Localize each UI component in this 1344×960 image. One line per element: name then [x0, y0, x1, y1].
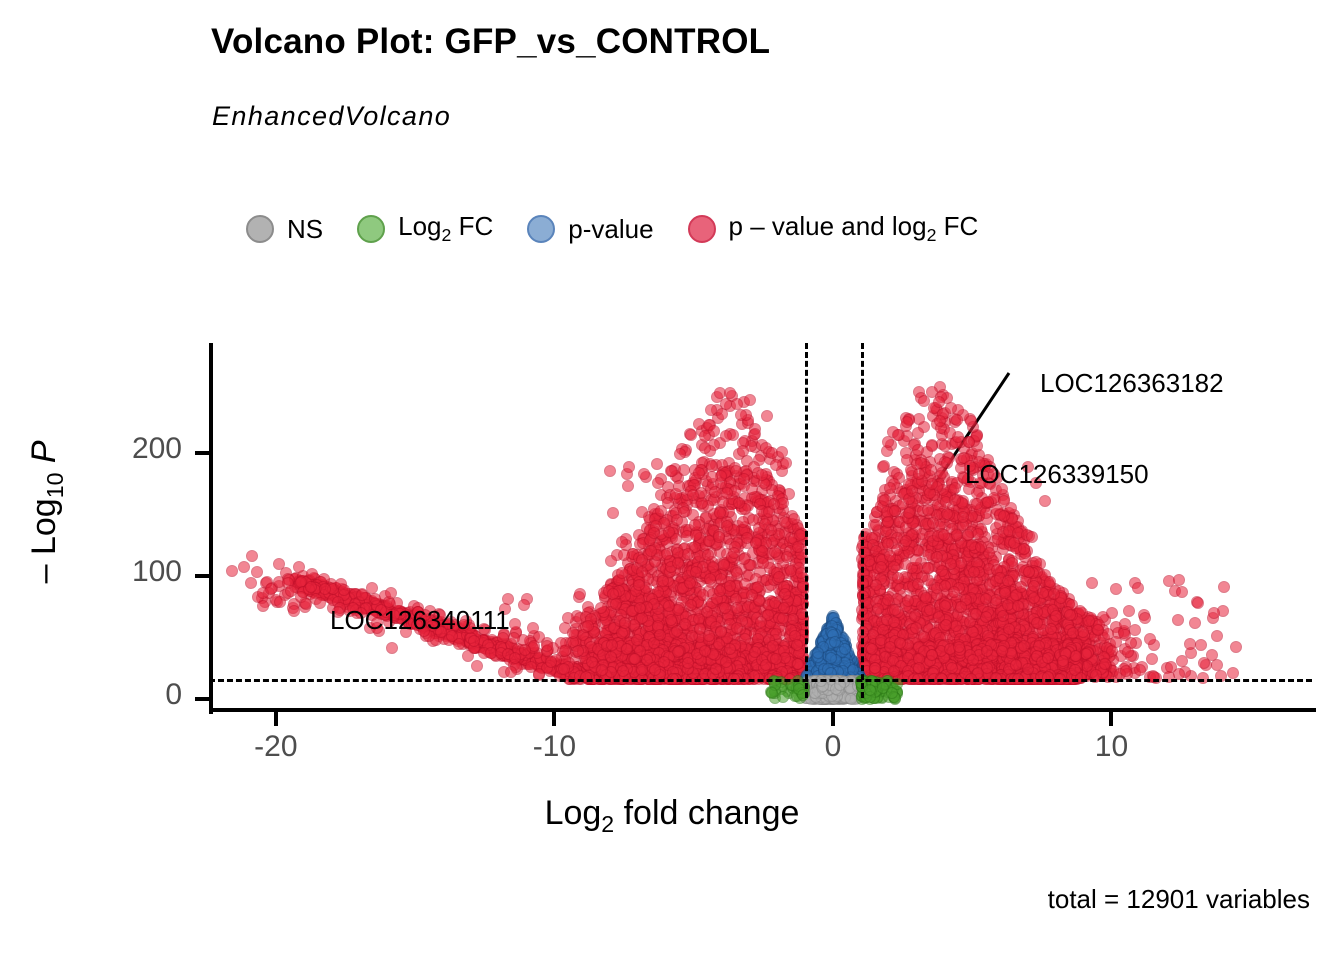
data-point [731, 567, 743, 579]
legend-swatch-icon [527, 215, 555, 243]
data-point [933, 396, 945, 408]
data-point [872, 603, 884, 615]
data-point [724, 387, 736, 399]
data-point [708, 425, 720, 437]
data-point [878, 460, 890, 472]
data-point [716, 408, 728, 420]
data-point [912, 444, 924, 456]
data-point [744, 394, 756, 406]
legend-item-3[interactable]: p – value and log2 FC [688, 211, 1013, 246]
data-point [674, 448, 686, 460]
data-point [657, 575, 669, 587]
legend-swatch-icon [688, 215, 716, 243]
data-point [882, 436, 894, 448]
data-point [705, 404, 717, 416]
data-point [1044, 576, 1056, 588]
data-point [965, 415, 977, 427]
legend: NSLog2 FCp-valuep – value and log2 FC [246, 203, 1012, 255]
data-point [944, 427, 956, 439]
data-point [970, 608, 982, 620]
data-point [941, 508, 953, 520]
legend-item-1[interactable]: Log2 FC [357, 211, 527, 246]
data-point [781, 551, 793, 563]
legend-item-label: Log2 FC [398, 211, 493, 246]
data-point [749, 428, 761, 440]
legend-swatch-icon [246, 215, 274, 243]
data-point [939, 440, 951, 452]
data-point [685, 429, 697, 441]
data-point [900, 535, 912, 547]
data-point [997, 610, 1009, 622]
page-title: Volcano Plot: GFP_vs_CONTROL [211, 22, 770, 62]
legend-swatch-icon [357, 215, 385, 243]
data-point [901, 416, 913, 428]
data-point [1048, 588, 1060, 600]
data-point [761, 410, 773, 422]
data-point [794, 529, 806, 541]
data-point [888, 561, 900, 573]
data-point [735, 409, 747, 421]
legend-item-label: p – value and log2 FC [729, 211, 979, 246]
legend-item-label: NS [287, 214, 323, 245]
data-point [926, 440, 938, 452]
data-point [915, 457, 927, 469]
data-point [912, 427, 924, 439]
data-point [663, 526, 675, 538]
data-point [927, 517, 939, 529]
data-point [938, 529, 950, 541]
data-point [788, 513, 800, 525]
legend-item-0[interactable]: NS [246, 214, 357, 245]
data-point [678, 464, 690, 476]
data-point [731, 398, 743, 410]
legend-item-2[interactable]: p-value [527, 214, 687, 245]
volcano-plot-figure: Volcano Plot: GFP_vs_CONTROL EnhancedVol… [0, 0, 1344, 960]
data-point [910, 622, 922, 634]
data-point [931, 551, 943, 563]
legend-item-label: p-value [568, 214, 653, 245]
data-point [949, 482, 961, 494]
data-point [863, 555, 875, 567]
data-point [1045, 623, 1057, 635]
page-subtitle: EnhancedVolcano [212, 101, 451, 132]
data-point [720, 430, 732, 442]
data-point [951, 414, 963, 426]
plot-panel: LOC126363182LOC126339150LOC126340111 [209, 343, 1312, 710]
